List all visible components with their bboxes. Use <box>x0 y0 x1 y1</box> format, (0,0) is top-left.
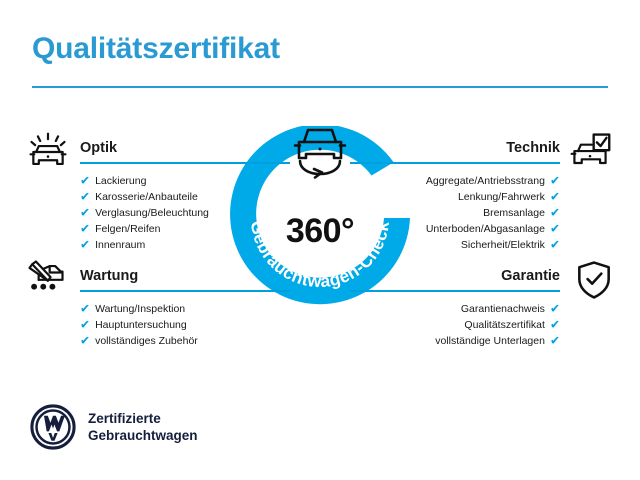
list-item: ✔ vollständiges Zubehör <box>80 333 290 349</box>
checklist-wartung: ✔ Wartung/Inspektion ✔ Hauptuntersuchung… <box>80 301 290 349</box>
check-icon: ✔ <box>550 191 560 203</box>
car-service-pen-icon <box>24 256 68 300</box>
list-item: ✔ Verglasung/Beleuchtung <box>80 205 290 221</box>
check-icon: ✔ <box>550 239 560 251</box>
list-item: Garantienachweis ✔ <box>350 301 560 317</box>
car-front-checkbox-icon <box>568 130 612 174</box>
list-item-label: vollständiges Zubehör <box>95 333 198 349</box>
list-item-label: Aggregate/Antriebsstrang <box>426 173 545 189</box>
list-item: Aggregate/Antriebsstrang ✔ <box>350 173 560 189</box>
list-item-label: Hauptuntersuchung <box>95 317 187 333</box>
check-icon: ✔ <box>550 175 560 187</box>
check-icon: ✔ <box>550 303 560 315</box>
checklist-optik: ✔ Lackierung ✔ Karosserie/Anbauteile ✔ V… <box>80 173 290 253</box>
footer-text: Zertifizierte Gebrauchtwagen <box>88 410 198 444</box>
check-icon: ✔ <box>80 175 90 187</box>
section-wartung: Wartung ✔ Wartung/Inspektion ✔ Hauptunte… <box>80 268 290 349</box>
list-item-label: Garantienachweis <box>461 301 545 317</box>
section-title-garantie: Garantie <box>350 268 560 285</box>
list-item-label: Qualitätszertifikat <box>464 317 545 333</box>
section-divider-garantie <box>350 290 560 292</box>
check-icon: ✔ <box>80 239 90 251</box>
list-item: Sicherheit/Elektrik ✔ <box>350 237 560 253</box>
section-divider-optik <box>80 162 290 164</box>
section-title-wartung: Wartung <box>80 268 290 285</box>
check-icon: ✔ <box>80 223 90 235</box>
check-icon: ✔ <box>550 223 560 235</box>
list-item: ✔ Innenraum <box>80 237 290 253</box>
check-icon: ✔ <box>80 319 90 331</box>
check-icon: ✔ <box>550 319 560 331</box>
list-item-label: Lackierung <box>95 173 146 189</box>
footer-line-1: Zertifizierte <box>88 410 198 427</box>
certificate-page: Qualitätszertifikat <box>0 0 640 480</box>
list-item: Bremsanlage ✔ <box>350 205 560 221</box>
section-garantie: Garantie Garantienachweis ✔ Qualitätszer… <box>350 268 560 349</box>
section-technik: Technik Aggregate/Antriebsstrang ✔ Lenku… <box>350 140 560 253</box>
page-title: Qualitätszertifikat <box>32 32 280 65</box>
shield-check-icon <box>572 258 616 302</box>
footer-line-2: Gebrauchtwagen <box>88 427 198 444</box>
footer-branding: Zertifizierte Gebrauchtwagen <box>30 404 198 450</box>
list-item-label: Felgen/Reifen <box>95 221 160 237</box>
check-icon: ✔ <box>80 303 90 315</box>
section-optik: Optik ✔ Lackierung ✔ Karosserie/Anbautei… <box>80 140 290 253</box>
check-icon: ✔ <box>80 207 90 219</box>
volkswagen-logo <box>30 404 76 450</box>
section-divider-technik <box>350 162 560 164</box>
list-item-label: Verglasung/Beleuchtung <box>95 205 209 221</box>
list-item: ✔ Lackierung <box>80 173 290 189</box>
list-item: Lenkung/Fahrwerk ✔ <box>350 189 560 205</box>
list-item: ✔ Hauptuntersuchung <box>80 317 290 333</box>
list-item-label: Lenkung/Fahrwerk <box>458 189 545 205</box>
list-item-label: Innenraum <box>95 237 145 253</box>
section-divider-wartung <box>80 290 290 292</box>
list-item: ✔ Karosserie/Anbauteile <box>80 189 290 205</box>
checklist-garantie: Garantienachweis ✔ Qualitätszertifikat ✔… <box>350 301 560 349</box>
list-item-label: Unterboden/Abgasanlage <box>426 221 545 237</box>
section-title-optik: Optik <box>80 140 290 157</box>
check-icon: ✔ <box>80 335 90 347</box>
list-item: ✔ Felgen/Reifen <box>80 221 290 237</box>
car-rotation-360-icon <box>284 120 356 182</box>
car-front-lights-icon <box>26 130 70 174</box>
check-icon: ✔ <box>550 207 560 219</box>
list-item-label: Sicherheit/Elektrik <box>461 237 545 253</box>
list-item-label: Karosserie/Anbauteile <box>95 189 198 205</box>
check-icon: ✔ <box>80 191 90 203</box>
section-title-technik: Technik <box>350 140 560 157</box>
checklist-technik: Aggregate/Antriebsstrang ✔ Lenkung/Fahrw… <box>350 173 560 253</box>
list-item-label: Wartung/Inspektion <box>95 301 185 317</box>
list-item: Unterboden/Abgasanlage ✔ <box>350 221 560 237</box>
check-icon: ✔ <box>550 335 560 347</box>
list-item: vollständige Unterlagen ✔ <box>350 333 560 349</box>
list-item-label: Bremsanlage <box>483 205 545 221</box>
list-item: Qualitätszertifikat ✔ <box>350 317 560 333</box>
header-divider <box>32 86 608 88</box>
list-item: ✔ Wartung/Inspektion <box>80 301 290 317</box>
list-item-label: vollständige Unterlagen <box>435 333 545 349</box>
